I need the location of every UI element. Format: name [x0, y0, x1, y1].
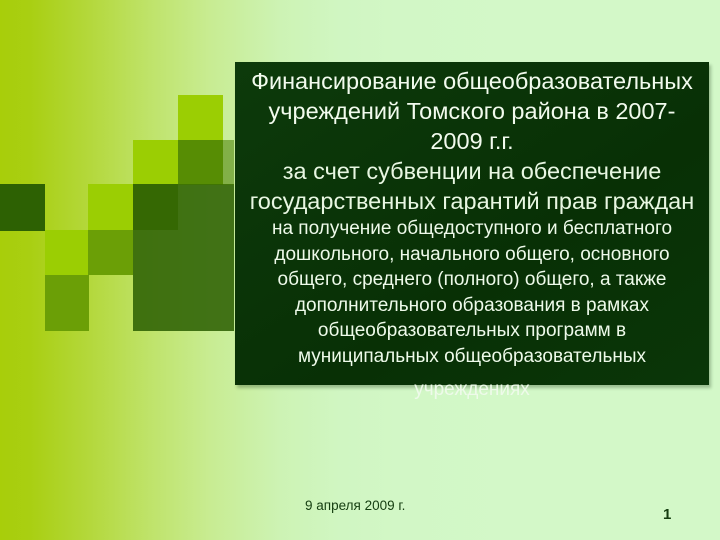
- square-block-dark-top: [178, 140, 234, 185]
- body-line-1: на получение общедоступного и бесплатног…: [235, 216, 709, 242]
- decorative-mosaic: [0, 0, 240, 360]
- body-line-5: общеобразовательных программ в: [235, 318, 709, 344]
- subtitle-line-1: за счет субвенции на обеспечение: [235, 156, 709, 186]
- body-line-6: муниципальных общеобразовательных: [235, 344, 709, 370]
- body-line-4: дополнительного образования в рамках: [235, 293, 709, 319]
- square-mid-bottom: [45, 275, 89, 331]
- body-line-3: общего, среднего (полного) общего, а так…: [235, 267, 709, 293]
- square-bright-mid: [88, 184, 133, 230]
- square-block-dark: [133, 184, 234, 331]
- footer-date: 9 апреля 2009 г.: [305, 498, 405, 513]
- title-line-3: 2009 г.г.: [235, 126, 709, 156]
- title-panel: Финансирование общеобразовательных учреж…: [235, 62, 709, 385]
- title-text-block: Финансирование общеобразовательных учреж…: [235, 66, 709, 403]
- square-mid-lower: [88, 230, 133, 275]
- body-line-2: дошкольного, начального общего, основног…: [235, 242, 709, 268]
- slide-canvas: Финансирование общеобразовательных учреж…: [0, 0, 720, 540]
- square-dark-left: [0, 184, 45, 231]
- subtitle-line-2: государственных гарантий прав граждан: [235, 186, 709, 216]
- square-bright-upper: [133, 140, 178, 185]
- title-line-2: учреждений Томского района в 2007-: [235, 96, 709, 126]
- page-number: 1: [663, 506, 671, 523]
- square-bright-lower: [45, 230, 89, 275]
- square-bright-top: [178, 95, 223, 141]
- title-line-1: Финансирование общеобразовательных: [235, 66, 709, 96]
- body-line-7: учреждениях: [235, 369, 709, 403]
